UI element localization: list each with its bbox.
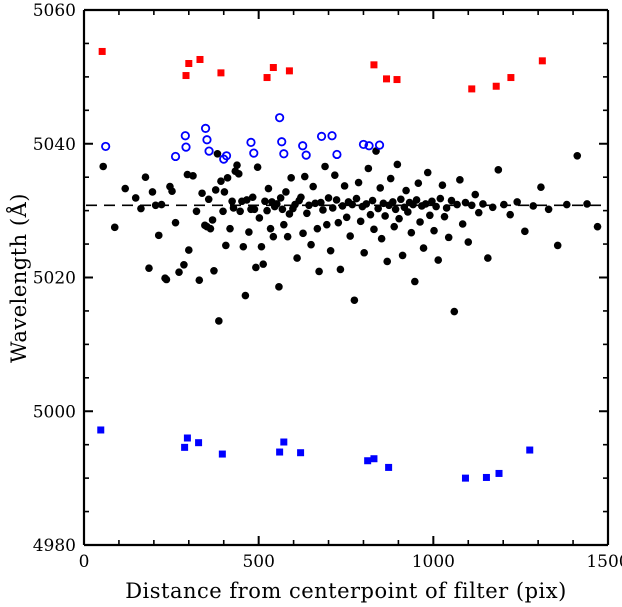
data-point-black [408, 229, 416, 237]
data-point-blue-circle [203, 136, 210, 143]
data-point-black [383, 258, 391, 266]
data-point-black [420, 244, 428, 252]
x-tick-label: 0 [79, 552, 90, 572]
data-point-black [439, 181, 447, 189]
data-point-black [245, 228, 253, 236]
data-point-black [341, 182, 349, 190]
y-tick-label: 5040 [33, 135, 76, 155]
data-point-black [365, 165, 373, 173]
data-point-blue-circle [376, 141, 383, 148]
data-point-black [279, 205, 287, 213]
data-point-black [221, 188, 229, 196]
data-point-blue-circle [280, 150, 287, 157]
data-point-black [256, 214, 264, 222]
data-point-black [456, 176, 464, 184]
data-point-black [168, 187, 176, 195]
data-point-black [217, 177, 225, 185]
data-point-black [416, 218, 424, 226]
data-point-black [437, 195, 445, 203]
data-point-black [158, 201, 166, 209]
data-point-blue-square [280, 439, 287, 446]
data-point-blue-circle [333, 151, 340, 158]
data-point-black [270, 233, 278, 241]
data-point-red-square [493, 83, 500, 90]
data-point-black [259, 260, 267, 268]
data-point-blue-square [97, 426, 104, 433]
data-point-red-square [286, 67, 293, 74]
data-point-black [121, 185, 129, 193]
data-point-black [149, 188, 157, 196]
data-point-black [155, 232, 163, 240]
data-point-red-square [383, 75, 390, 82]
data-point-blue-square [385, 464, 392, 471]
data-point-black [370, 226, 378, 234]
data-point-black [484, 254, 492, 262]
data-point-black [195, 276, 203, 284]
data-point-blue-square [526, 447, 533, 454]
y-tick-label: 5020 [33, 269, 76, 289]
data-point-black [329, 204, 337, 212]
data-point-blue-circle [172, 153, 179, 160]
data-point-black [323, 221, 331, 229]
data-point-black [287, 174, 295, 182]
y-tick-labels: 49805000502050405060 [33, 1, 76, 556]
data-point-black [453, 201, 461, 209]
data-point-black [249, 193, 257, 201]
data-point-blue-circle [205, 147, 212, 154]
data-point-black [145, 264, 153, 272]
data-point-blue-square [364, 457, 371, 464]
data-point-black [506, 211, 514, 219]
data-point-black [193, 207, 201, 215]
data-point-black [321, 163, 329, 171]
data-point-black [314, 225, 322, 233]
data-point-black [495, 166, 503, 174]
x-tick-label: 1500 [586, 552, 622, 572]
x-tick-label: 500 [242, 552, 274, 572]
data-point-black [333, 196, 341, 204]
data-point-black [500, 201, 508, 209]
data-point-black [226, 225, 234, 233]
data-point-black [233, 161, 241, 169]
data-point-blue-circle [302, 151, 309, 158]
data-point-black [387, 175, 395, 183]
data-point-red-square [539, 57, 546, 64]
data-point-red-square [99, 48, 106, 55]
data-point-black [471, 191, 479, 199]
data-point-black [215, 317, 223, 325]
data-point-black [489, 203, 497, 211]
series-high-outliers [99, 48, 546, 92]
series-blue-circle-group [102, 114, 383, 163]
data-point-red-square [183, 72, 190, 79]
data-point-blue-square [219, 451, 226, 458]
data-point-black [445, 234, 453, 242]
data-point-blue-circle [318, 133, 325, 140]
data-point-black [210, 267, 218, 275]
data-point-black [479, 200, 487, 208]
series-low-outliers [97, 426, 533, 481]
data-point-black [315, 268, 323, 276]
data-point-red-square [185, 60, 192, 67]
data-point-black [430, 227, 438, 235]
data-point-blue-circle [102, 143, 109, 150]
data-point-black [475, 209, 483, 217]
data-point-black [319, 206, 327, 214]
data-point-black [219, 207, 227, 215]
series-main-sample [99, 147, 601, 324]
data-point-black [282, 188, 290, 196]
data-point-blue-square [181, 444, 188, 451]
y-tick-label: 4980 [33, 536, 76, 556]
data-point-black [376, 184, 384, 192]
data-point-black [301, 173, 309, 181]
data-point-blue-circle [299, 142, 306, 149]
data-point-black [251, 205, 259, 213]
data-point-black [293, 254, 301, 262]
data-point-black [307, 241, 315, 249]
data-point-black [394, 161, 402, 169]
data-point-black [198, 189, 206, 197]
data-point-blue-square [370, 455, 377, 462]
data-point-black [402, 187, 410, 195]
data-point-black [343, 214, 351, 222]
data-point-black [236, 207, 244, 215]
data-point-black [331, 171, 339, 179]
data-point-blue-circle [202, 125, 209, 132]
data-point-black [224, 174, 232, 182]
data-point-red-square [196, 56, 203, 63]
data-point-black [424, 169, 432, 177]
x-axis-label: Distance from centerpoint of filter (pix… [125, 579, 567, 603]
data-point-black [443, 204, 451, 212]
data-point-black [594, 223, 602, 231]
data-point-black [353, 195, 361, 203]
data-point-black [434, 256, 442, 264]
data-point-black [355, 179, 363, 187]
data-point-black [265, 185, 273, 193]
data-point-black [137, 205, 145, 213]
data-point-black [404, 208, 412, 216]
data-point-black [392, 205, 400, 213]
data-point-black [258, 243, 266, 251]
data-point-black [399, 252, 407, 260]
data-point-black [346, 232, 354, 240]
plot-canvas: 050010001500 49805000502050405060 Distan… [0, 0, 622, 607]
data-point-black [369, 197, 377, 205]
data-point-black [207, 225, 215, 233]
data-point-blue-square [496, 470, 503, 477]
data-point-blue-circle [182, 143, 189, 150]
data-point-red-square [217, 69, 224, 76]
data-point-black [583, 200, 591, 208]
data-point-black [415, 179, 423, 187]
data-point-black [367, 211, 375, 219]
data-point-black [263, 207, 271, 215]
data-point-black [297, 193, 305, 201]
data-point-black [277, 194, 285, 202]
data-point-blue-circle [276, 114, 283, 121]
data-point-black [205, 195, 213, 203]
data-point-black [464, 238, 472, 246]
data-point-black [235, 170, 243, 178]
data-point-black [189, 172, 197, 180]
data-point-black [254, 163, 262, 171]
data-point-black [317, 199, 325, 207]
data-point-black [411, 278, 419, 286]
data-point-black [275, 283, 283, 291]
data-point-black [267, 225, 275, 233]
data-point-red-square [264, 74, 271, 81]
data-point-black [303, 210, 311, 218]
data-point-black [111, 224, 119, 232]
data-point-red-square [370, 61, 377, 68]
data-point-black [432, 203, 440, 211]
data-point-red-square [507, 74, 514, 81]
data-point-black [242, 292, 250, 300]
data-point-black [468, 201, 476, 209]
data-point-black [228, 197, 236, 205]
data-point-blue-square [462, 475, 469, 482]
data-point-black [459, 220, 467, 228]
data-point-black [537, 183, 545, 191]
data-point-black [327, 247, 335, 255]
data-point-black [554, 242, 562, 250]
data-point-black [397, 195, 405, 203]
data-point-black [163, 276, 171, 284]
data-point-black [132, 194, 140, 202]
data-point-black [573, 152, 581, 160]
data-point-red-square [468, 85, 475, 92]
data-point-black [395, 215, 403, 223]
data-point-blue-square [276, 449, 283, 456]
data-point-blue-square [483, 474, 490, 481]
data-point-blue-square [184, 435, 191, 442]
data-point-black [521, 228, 529, 236]
data-point-black [280, 221, 288, 229]
data-point-black [252, 264, 260, 272]
data-point-black [335, 219, 343, 227]
data-point-black [99, 163, 107, 171]
data-point-blue-square [195, 439, 202, 446]
data-point-black [426, 212, 434, 220]
data-point-black [172, 219, 180, 227]
data-point-black [185, 246, 193, 254]
data-point-black [299, 230, 307, 238]
data-point-black [142, 173, 150, 181]
data-point-black [230, 204, 238, 212]
data-point-black [563, 201, 571, 209]
data-point-blue-square [297, 449, 304, 456]
data-point-black [545, 205, 553, 213]
data-point-blue-circle [182, 132, 189, 139]
x-tick-labels: 050010001500 [79, 552, 622, 572]
data-point-red-square [270, 64, 277, 71]
data-point-black [413, 196, 421, 204]
data-point-black [212, 186, 220, 194]
data-point-black [513, 198, 521, 206]
data-point-red-square [394, 76, 401, 83]
data-point-black [175, 268, 183, 276]
data-point-black [337, 266, 345, 274]
data-point-black [360, 249, 368, 257]
data-point-black [261, 197, 269, 205]
data-point-black [529, 202, 537, 210]
data-point-black [381, 212, 389, 220]
data-point-black [351, 296, 359, 304]
data-point-black [309, 183, 317, 191]
data-point-black [284, 233, 292, 241]
x-tick-label: 1000 [412, 552, 455, 572]
data-point-blue-circle [250, 149, 257, 156]
data-point-black [222, 242, 230, 250]
data-point-black [240, 243, 248, 251]
data-point-black [390, 223, 398, 231]
data-point-black [325, 194, 333, 202]
data-point-blue-circle [328, 132, 335, 139]
data-point-blue-circle [247, 139, 254, 146]
data-point-black [357, 218, 365, 226]
data-point-black [389, 198, 397, 206]
data-point-blue-circle [278, 138, 285, 145]
y-axis-label: Wavelength (Å) [6, 193, 31, 363]
data-point-black [209, 216, 217, 224]
data-point-black [378, 235, 386, 243]
data-point-black [441, 213, 449, 221]
y-tick-label: 5060 [33, 1, 76, 21]
data-point-black [180, 261, 188, 269]
data-point-black [450, 308, 458, 316]
scatter-plot-figure: 050010001500 49805000502050405060 Distan… [0, 0, 622, 607]
y-tick-label: 5000 [33, 402, 76, 422]
